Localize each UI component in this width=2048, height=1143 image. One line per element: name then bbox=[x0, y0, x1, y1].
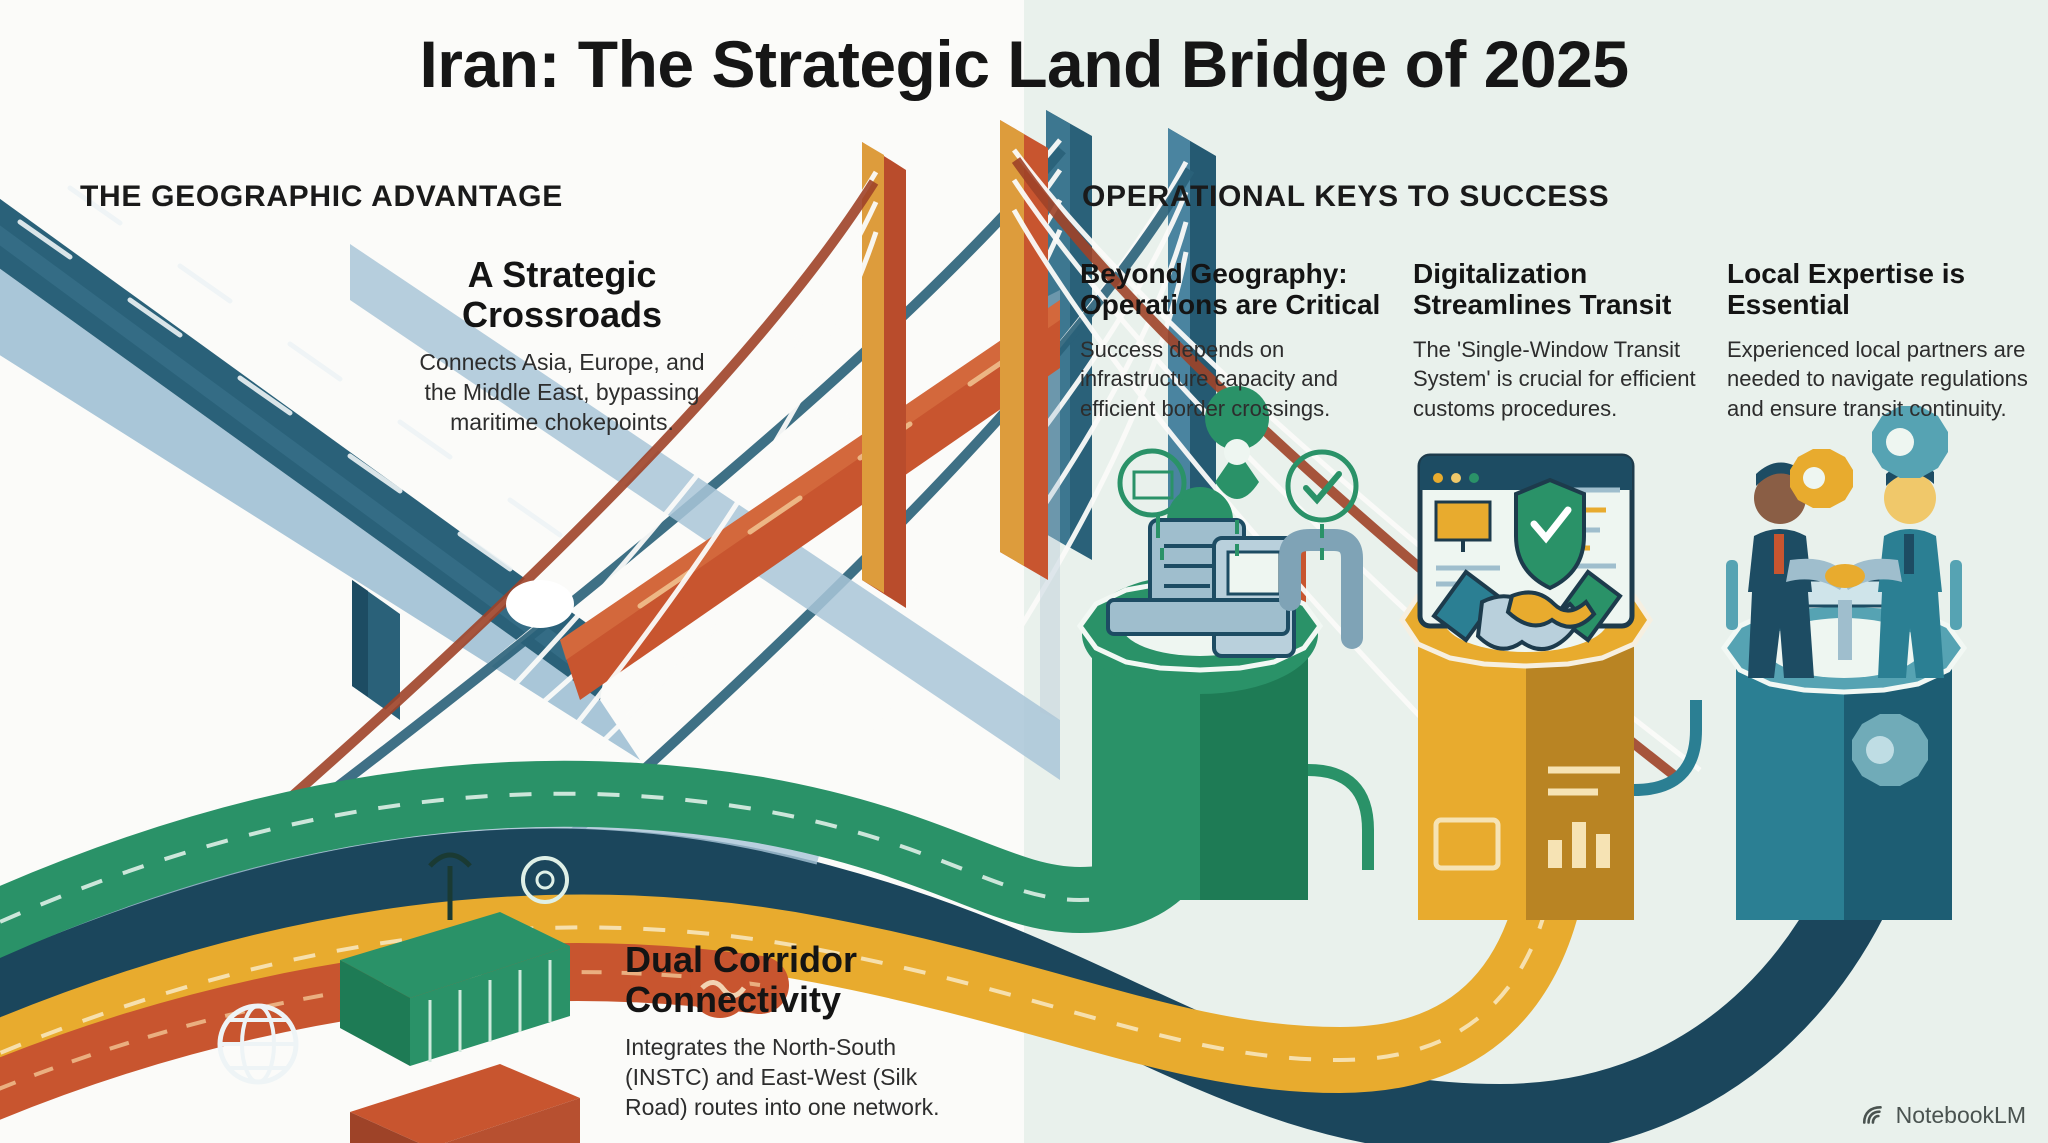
card-body: The 'Single-Window Transit System' is cr… bbox=[1413, 335, 1718, 423]
card-body: Success depends on infrastructure capaci… bbox=[1080, 335, 1385, 423]
notebooklm-spiral-icon bbox=[1861, 1103, 1887, 1129]
section-heading-operational-keys: OPERATIONAL KEYS TO SUCCESS bbox=[1082, 180, 1609, 214]
block-body: Integrates the North-South (INSTC) and E… bbox=[625, 1032, 975, 1123]
block-body: Connects Asia, Europe, and the Middle Ea… bbox=[412, 347, 712, 438]
notebooklm-watermark: NotebookLM bbox=[1861, 1102, 2026, 1129]
block-dual-corridor-connectivity: Dual Corridor Connectivity Integrates th… bbox=[625, 940, 975, 1123]
block-title: Dual Corridor Connectivity bbox=[625, 940, 975, 1021]
card-title: Digitalization Streamlines Transit bbox=[1413, 258, 1718, 321]
card-title: Beyond Geography: Operations are Critica… bbox=[1080, 258, 1385, 321]
card-digitalization: Digitalization Streamlines Transit The '… bbox=[1413, 258, 1718, 423]
watermark-label: NotebookLM bbox=[1896, 1102, 2026, 1129]
page-title: Iran: The Strategic Land Bridge of 2025 bbox=[0, 30, 2048, 99]
card-local-expertise: Local Expertise is Essential Experienced… bbox=[1727, 258, 2032, 423]
card-title: Local Expertise is Essential bbox=[1727, 258, 2032, 321]
block-title: A Strategic Crossroads bbox=[412, 255, 712, 336]
section-heading-geographic-advantage: THE GEOGRAPHIC ADVANTAGE bbox=[80, 180, 563, 214]
text-layer: Iran: The Strategic Land Bridge of 2025 … bbox=[0, 0, 2048, 1143]
block-strategic-crossroads: A Strategic Crossroads Connects Asia, Eu… bbox=[412, 255, 712, 438]
card-body: Experienced local partners are needed to… bbox=[1727, 335, 2032, 423]
card-beyond-geography: Beyond Geography: Operations are Critica… bbox=[1080, 258, 1385, 423]
infographic-canvas: Iran: The Strategic Land Bridge of 2025 … bbox=[0, 0, 2048, 1143]
